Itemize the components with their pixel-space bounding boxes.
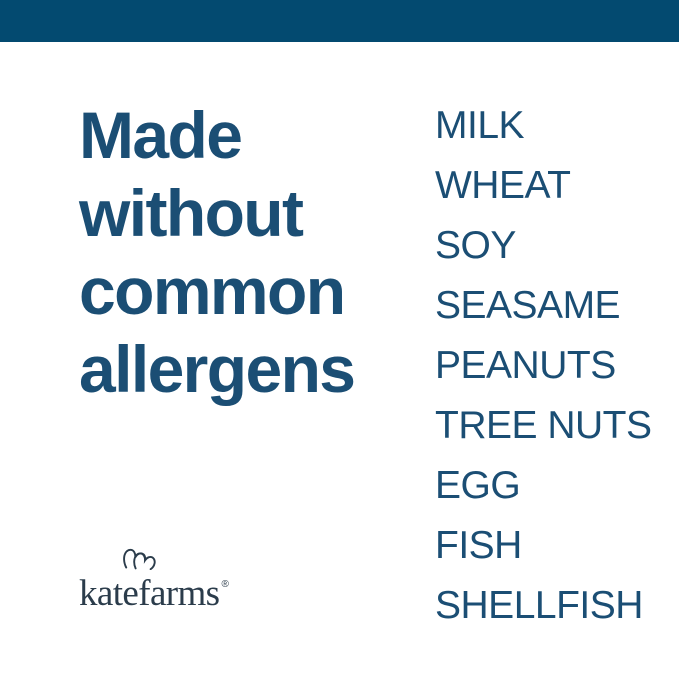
headline-line-3: common	[79, 252, 409, 330]
brand-logo: katefarms ®	[79, 566, 229, 612]
list-item: MILK	[435, 96, 655, 156]
list-item: FISH	[435, 516, 655, 576]
list-item: WHEAT	[435, 156, 655, 216]
infographic-canvas: Made without common allergens MILK WHEAT…	[0, 0, 679, 679]
list-item: SOY	[435, 216, 655, 276]
list-item: SEASAME	[435, 276, 655, 336]
list-item: TREE NUTS	[435, 396, 655, 456]
logo-wordmark-text: katefarms	[79, 575, 219, 612]
list-item: PEANUTS	[435, 336, 655, 396]
headline-line-1: Made	[79, 96, 409, 174]
double-heart-leaf-icon	[123, 546, 157, 570]
top-navy-band	[0, 0, 679, 42]
list-item: EGG	[435, 456, 655, 516]
headline-line-4: allergens	[79, 330, 409, 408]
allergen-list: MILK WHEAT SOY SEASAME PEANUTS TREE NUTS…	[435, 96, 655, 636]
page-title: Made without common allergens	[79, 96, 409, 408]
headline-line-2: without	[79, 174, 409, 252]
registered-trademark-icon: ®	[221, 580, 228, 590]
list-item: SHELLFISH	[435, 576, 655, 636]
